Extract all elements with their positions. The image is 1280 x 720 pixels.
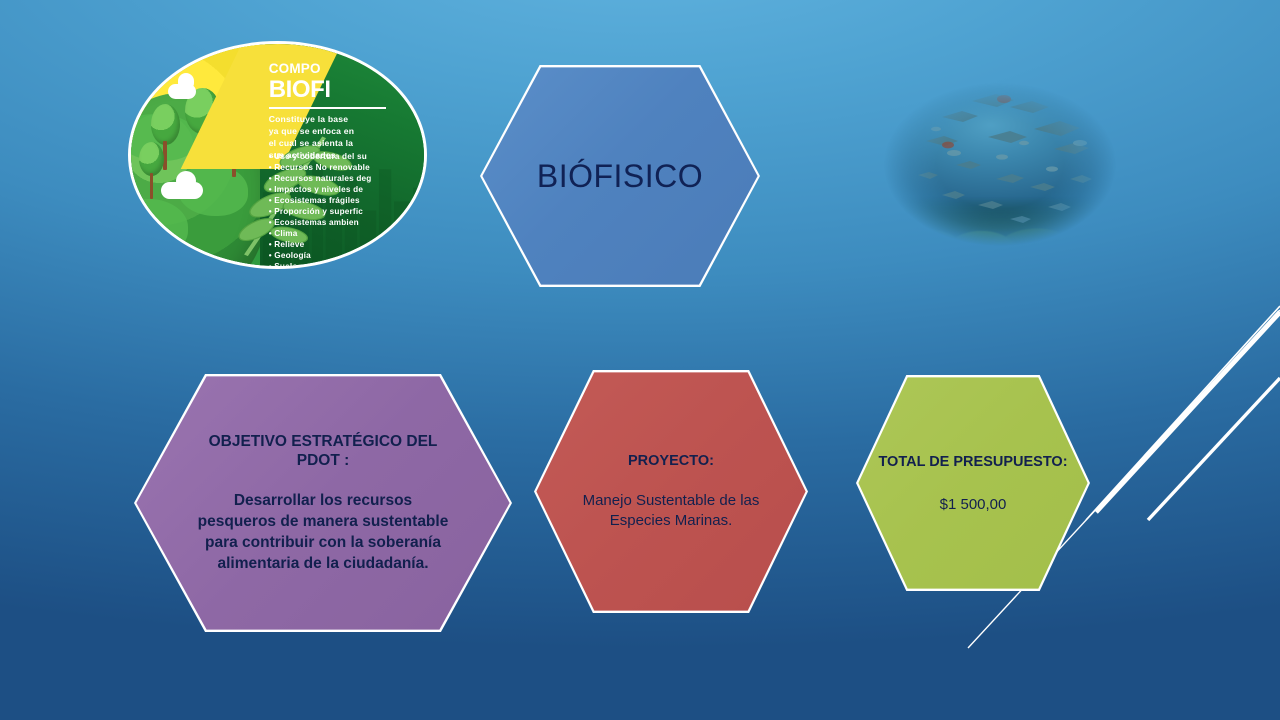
infographic-bullet-list: • Uso y cobertura del su• Recursos No re… xyxy=(269,152,427,269)
infographic-divider xyxy=(269,107,386,109)
objetivo-body: Desarrollar los recursos pesqueros de ma… xyxy=(194,491,451,574)
infographic-bullet-item: • Proporción y superfic xyxy=(269,207,427,218)
hexagon-objetivo-estrategico[interactable]: OBJETIVO ESTRATÉGICO DEL PDOT : Desarrol… xyxy=(134,374,512,632)
infographic-bullet-item: • Ecosistemas frágiles xyxy=(269,196,427,207)
hexagon-proyecto[interactable]: PROYECTO: Manejo Sustentable de las Espe… xyxy=(534,370,808,613)
hexagon-title-biofisico: BIÓFISICO xyxy=(516,158,723,195)
infographic-circle-image: COMPO BIOFI Constituye la baseya que se … xyxy=(128,41,427,269)
continent-shape xyxy=(128,199,188,254)
infographic-bullet-item: • Recursos naturales deg xyxy=(269,174,427,185)
slide-canvas: COMPO BIOFI Constituye la baseya que se … xyxy=(0,0,1280,720)
infographic-bullet-item: • Uso y cobertura del su xyxy=(269,152,427,163)
infographic-paragraph-line: el cual se asienta la xyxy=(269,137,427,149)
infographic-bullet-item: • Clima xyxy=(269,229,427,240)
infographic-bullet-item: • Suelos xyxy=(269,262,427,270)
infographic-bullet-item: • Geología xyxy=(269,251,427,262)
presupuesto-heading: TOTAL DE PRESUPUESTO: xyxy=(872,453,1073,472)
infographic-bullet-item: • Impactos y niveles de xyxy=(269,185,427,196)
proyecto-heading: PROYECTO: xyxy=(570,453,773,469)
presupuesto-amount: $1 500,00 xyxy=(872,496,1073,513)
objetivo-heading: OBJETIVO ESTRATÉGICO DEL PDOT : xyxy=(194,432,451,472)
infographic-bullet-item: • Recursos No renovable xyxy=(269,163,427,174)
cloud-icon xyxy=(176,171,195,191)
infographic-heading-line1: COMPO xyxy=(269,61,321,76)
fish-school-graphic xyxy=(884,83,1116,246)
infographic-heading-line2: BIOFI xyxy=(269,76,331,104)
hexagon-total-presupuesto[interactable]: TOTAL DE PRESUPUESTO: $1 500,00 xyxy=(856,375,1090,591)
cloud-icon xyxy=(178,73,195,91)
infographic-paragraph-line: ya que se enfoca en xyxy=(269,125,427,137)
infographic-paragraph-line: Constituye la base xyxy=(269,113,427,125)
underwater-sea-photo xyxy=(884,83,1116,246)
proyecto-body: Manejo Sustentable de las Especies Marin… xyxy=(570,491,773,530)
infographic-bullet-item: • Relieve xyxy=(269,240,427,251)
hexagon-biofisico[interactable]: BIÓFISICO xyxy=(480,65,760,287)
infographic-bullet-item: • Ecosistemas ambien xyxy=(269,218,427,229)
